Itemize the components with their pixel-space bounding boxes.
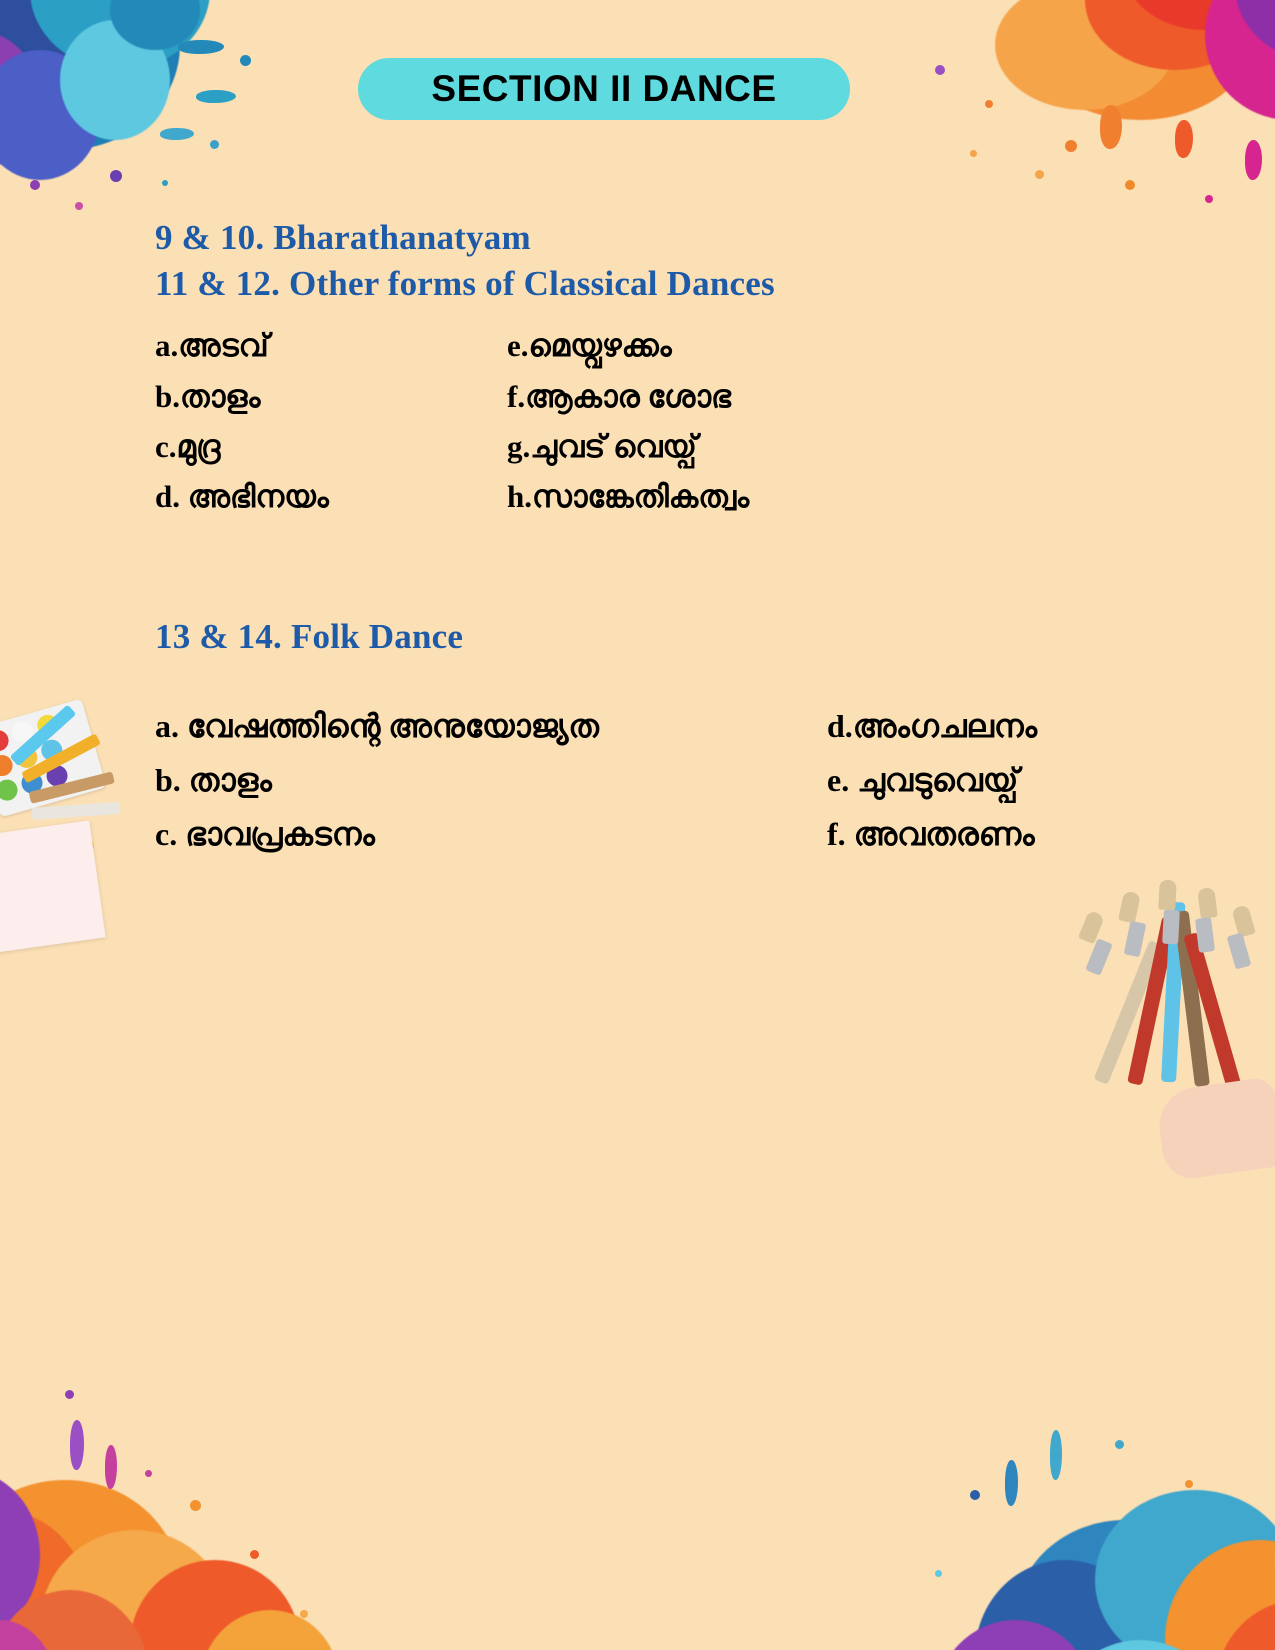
list-row: b. താളം e. ചുവടുവെയ്പ് xyxy=(155,754,1165,808)
classical-criteria-list: a.അടവ് e.മെയ്വഴക്കം b.താളം f.ആകാര ശോഭ c.… xyxy=(155,321,1165,522)
hand-holding-brushes-icon xyxy=(1075,880,1275,1170)
section-spacer xyxy=(155,522,1165,614)
list-item: b. താളം xyxy=(155,754,827,808)
paint-splatter-bottom-right-icon xyxy=(915,1370,1275,1650)
heading-bharathanatyam: 9 & 10. Bharathanatyam xyxy=(155,215,1165,261)
list-item: c.മുദ്ര xyxy=(155,422,507,472)
content-area: 9 & 10. Bharathanatyam 11 & 12. Other fo… xyxy=(155,215,1165,862)
paint-splatter-bottom-left-icon xyxy=(0,1360,410,1650)
list-row: a. വേഷത്തിന്റെ അനുയോജ്യത d.അംഗചലനം xyxy=(155,700,1165,754)
list-row: c. ഭാവപ്രകടനം f. അവതരണം xyxy=(155,808,1165,862)
poster-page: SECTION II DANCE 9 & 10. Bharathanatyam … xyxy=(0,0,1275,1650)
list-item: d.അംഗചലനം xyxy=(827,700,1037,754)
list-item: d. അഭിനയം xyxy=(155,472,507,522)
list-item: a. വേഷത്തിന്റെ അനുയോജ്യത xyxy=(155,700,827,754)
hand-icon xyxy=(1154,1076,1275,1182)
section-banner: SECTION II DANCE xyxy=(358,58,850,120)
list-item: h.സാങ്കേതികത്വം xyxy=(507,472,749,522)
folk-criteria-list: a. വേഷത്തിന്റെ അനുയോജ്യത d.അംഗചലനം b. താ… xyxy=(155,700,1165,861)
paper-sheet-icon xyxy=(0,820,106,953)
list-item: a.അടവ് xyxy=(155,321,507,371)
list-item: e. ചുവടുവെയ്പ് xyxy=(827,754,1018,808)
list-row: b.താളം f.ആകാര ശോഭ xyxy=(155,372,1165,422)
list-item: b.താളം xyxy=(155,372,507,422)
section-classical: 9 & 10. Bharathanatyam 11 & 12. Other fo… xyxy=(155,215,1165,522)
list-item: f.ആകാര ശോഭ xyxy=(507,372,731,422)
list-item: f. അവതരണം xyxy=(827,808,1035,862)
art-supplies-illustration-icon xyxy=(0,700,161,950)
heading-folk-dance: 13 & 14. Folk Dance xyxy=(155,614,1165,660)
section-folk: 13 & 14. Folk Dance a. വേഷത്തിന്റെ അനുയോ… xyxy=(155,614,1165,861)
list-item: g.ചുവട് വെയ്പ് xyxy=(507,422,697,472)
heading-classical-dances: 11 & 12. Other forms of Classical Dances xyxy=(155,261,1165,307)
list-item: e.മെയ്വഴക്കം xyxy=(507,321,672,371)
list-row: c.മുദ്ര g.ചുവട് വെയ്പ് xyxy=(155,422,1165,472)
list-row: a.അടവ് e.മെയ്വഴക്കം xyxy=(155,321,1165,371)
list-row: d. അഭിനയം h.സാങ്കേതികത്വം xyxy=(155,472,1165,522)
list-item: c. ഭാവപ്രകടനം xyxy=(155,808,827,862)
section-title: SECTION II DANCE xyxy=(431,68,776,110)
